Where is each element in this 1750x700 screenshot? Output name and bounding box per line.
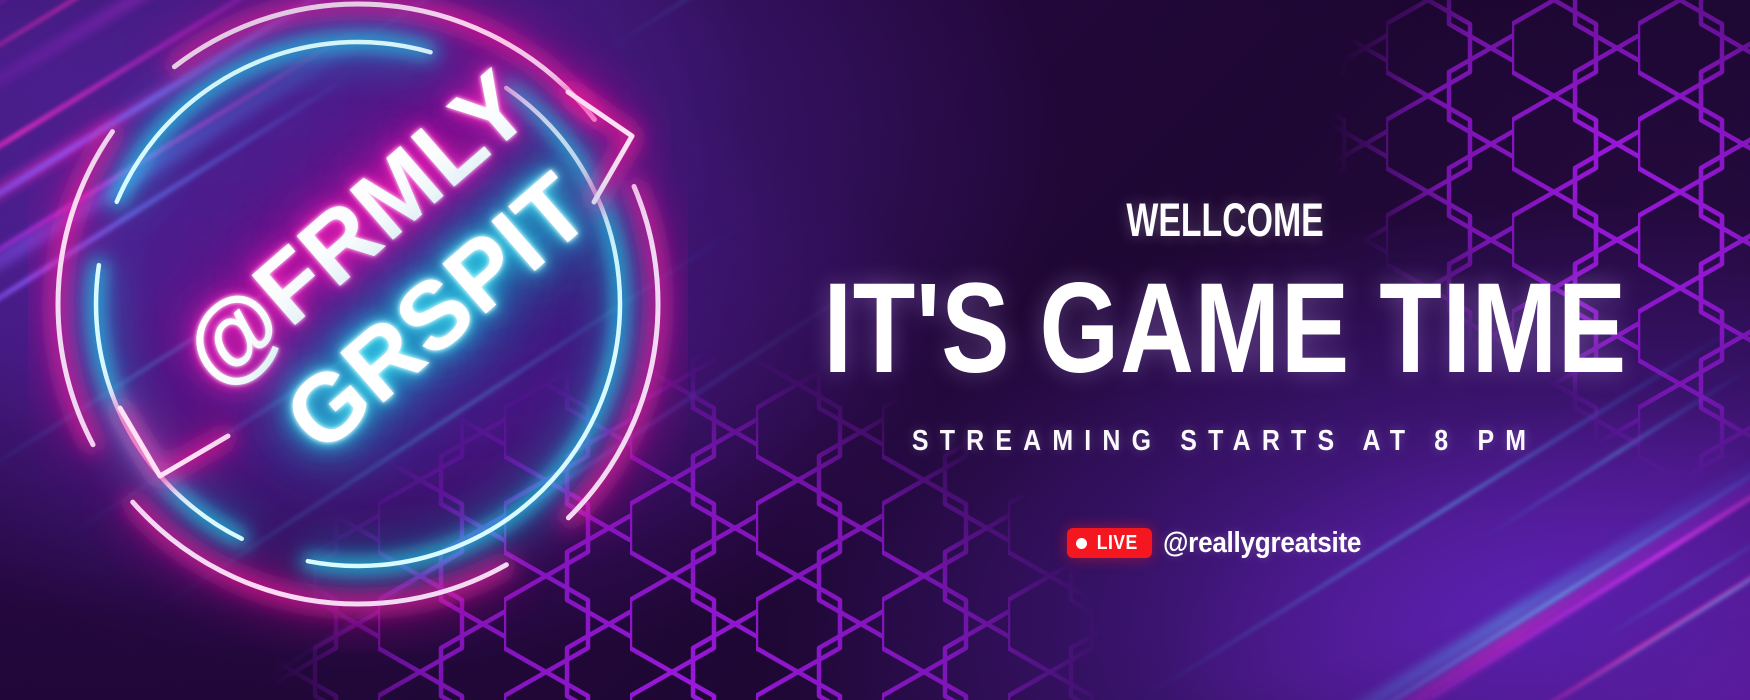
neon-gaming-banner: @FRMLY GRSPIT WELLCOME IT'S GAME TIME ST… [0, 0, 1750, 700]
live-label: LIVE [1097, 533, 1138, 553]
social-handle: @reallygreatsite [1163, 529, 1361, 558]
neon-logo-badge: @FRMLY GRSPIT [28, 0, 688, 652]
page-title: IT'S GAME TIME [823, 265, 1627, 393]
chevron-bracket-bottom-left [120, 408, 228, 476]
live-dot-icon [1076, 538, 1087, 549]
banner-content: WELLCOME IT'S GAME TIME STREAMING STARTS… [700, 0, 1750, 700]
eyebrow-text: WELLCOME [1126, 196, 1323, 243]
handle-row: LIVE @reallygreatsite [1067, 528, 1383, 558]
status-badge: LIVE [1067, 528, 1151, 558]
schedule-text: STREAMING STARTS AT 8 PM [912, 427, 1537, 456]
inner-ring-glow [96, 42, 620, 566]
